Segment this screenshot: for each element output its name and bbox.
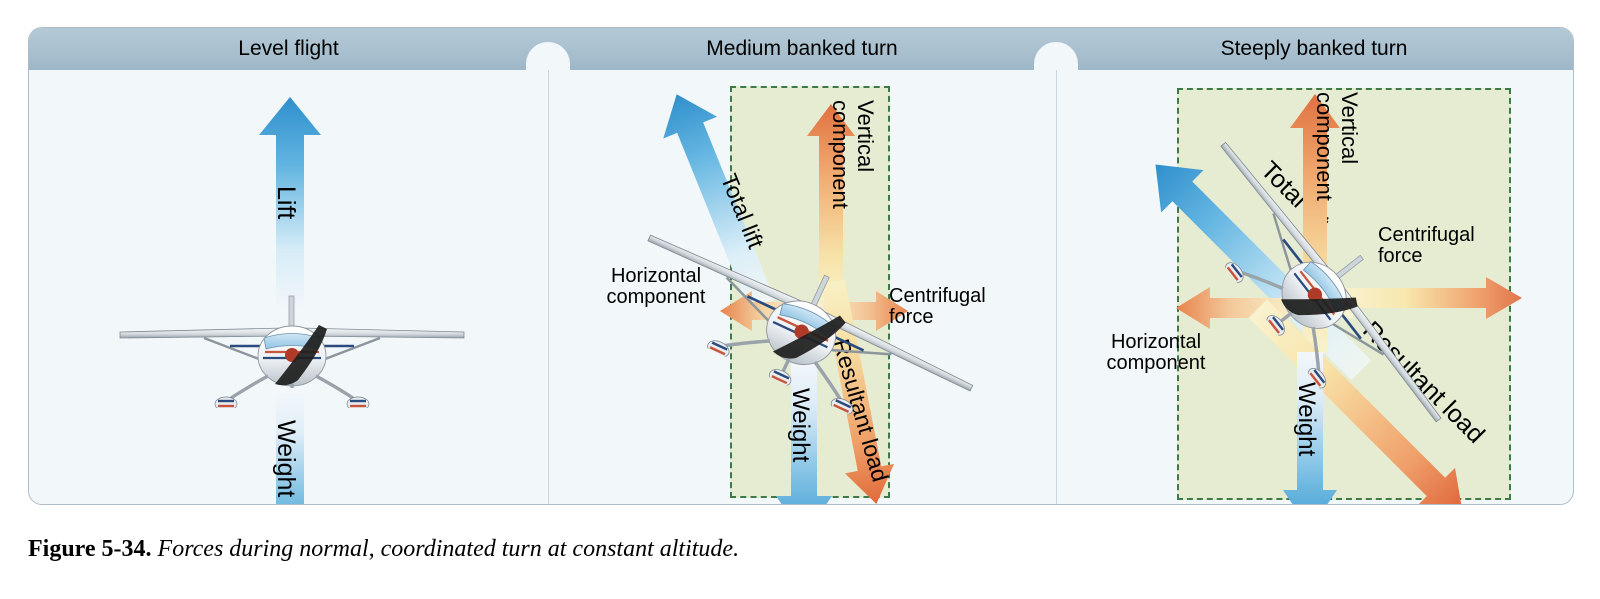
label-horizontal-component-steep: Horizontal component (1076, 332, 1236, 374)
figure-root: Level flight Medium banked turn Steeply … (0, 0, 1600, 599)
label-lift: Lift (271, 186, 300, 219)
figure-caption-text: Forces during normal, coordinated turn a… (152, 536, 740, 562)
diagram-container: Level flight Medium banked turn Steeply … (28, 27, 1574, 505)
label-horizontal-component-medium: Horizontal component (586, 266, 726, 308)
label-weight: Weight (271, 420, 300, 497)
label-centrifugal-force-steep: Centrifugal force (1378, 225, 1475, 267)
panel-title-steeply-banked-turn: Steeply banked turn (1056, 28, 1572, 70)
panel-title-level-flight: Level flight (29, 28, 548, 70)
label-vertical-component-line1: Vertical (852, 100, 878, 172)
label-weight-medium: Weight (786, 388, 814, 462)
figure-caption-label: Figure 5-34. (28, 536, 152, 562)
panel-level-flight: Lift (29, 70, 548, 505)
label-vertical-component-steep-line1: Vertical (1336, 92, 1362, 164)
panel-steeply-banked-turn: Total lift Vertical component (1056, 70, 1572, 505)
figure-caption: Figure 5-34. Forces during normal, coord… (28, 536, 1478, 563)
panel-medium-banked-turn: Total lift Vertical component (548, 70, 1056, 505)
label-centrifugal-force-medium: Centrifugal force (889, 286, 986, 328)
panel-title-medium-banked-turn: Medium banked turn (548, 28, 1056, 70)
aircraft-level-flight (204, 292, 379, 392)
label-vertical-component-line2: component (827, 100, 853, 209)
label-weight-steep: Weight (1292, 382, 1320, 456)
